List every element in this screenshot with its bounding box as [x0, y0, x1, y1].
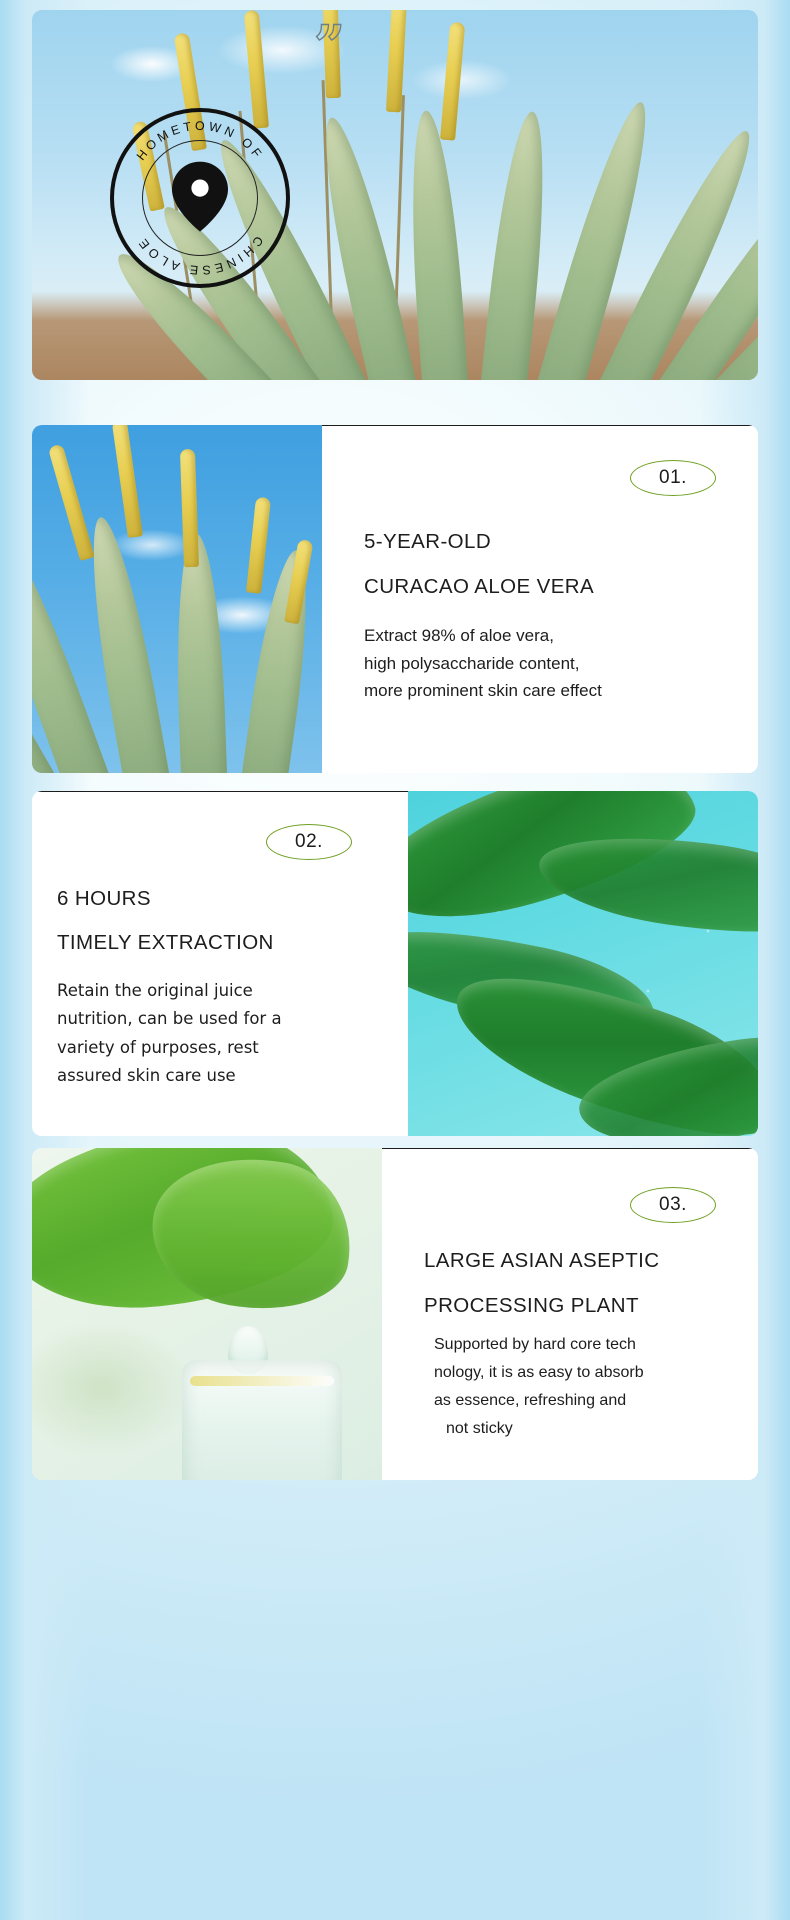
- hero-banner: ” HOMETOWN OF CHINESE ALOE: [32, 10, 758, 380]
- feature-card-1-heading: 5-YEAR-OLD CURACAO ALOE VERA: [364, 530, 594, 599]
- body-line: assured skin care use: [57, 1062, 375, 1090]
- feature-card-1-text: 01. 5-YEAR-OLD CURACAO ALOE VERA Extract…: [322, 425, 758, 773]
- feature-card-1-photo: [32, 425, 322, 773]
- body-line: as essence, refreshing and: [434, 1387, 734, 1415]
- feature-card-2: 02. 6 HOURS TIMELY EXTRACTION Retain the…: [32, 791, 758, 1136]
- feature-card-3-text: 03. LARGE ASIAN ASEPTIC PROCESSING PLANT…: [382, 1148, 758, 1480]
- feature-card-1-body: Extract 98% of aloe vera, high polysacch…: [364, 622, 602, 705]
- body-line: high polysaccharide content,: [364, 650, 602, 678]
- heading-line: 5-YEAR-OLD: [364, 530, 594, 554]
- heading-line: CURACAO ALOE VERA: [364, 575, 594, 599]
- heading-line: PROCESSING PLANT: [424, 1294, 659, 1318]
- feature-card-3-heading: LARGE ASIAN ASEPTIC PROCESSING PLANT: [424, 1249, 659, 1318]
- brand-seal-badge: HOMETOWN OF CHINESE ALOE: [110, 108, 290, 288]
- feature-card-3-number: 03.: [630, 1187, 716, 1223]
- feature-card-3-photo: [32, 1148, 382, 1480]
- seal-top-text: HOMETOWN OF: [134, 119, 266, 163]
- feature-card-2-photo: [408, 791, 758, 1136]
- feature-card-3: 03. LARGE ASIAN ASEPTIC PROCESSING PLANT…: [32, 1148, 758, 1480]
- body-line: more prominent skin care effect: [364, 677, 602, 705]
- body-line: nology, it is as easy to absorb: [434, 1359, 734, 1387]
- feature-card-2-number: 02.: [266, 824, 352, 860]
- body-line: Retain the original juice: [57, 977, 375, 1005]
- heading-line: 6 HOURS: [57, 887, 274, 911]
- body-line: Extract 98% of aloe vera,: [364, 622, 602, 650]
- body-line: not sticky: [434, 1415, 734, 1443]
- feature-card-3-body: Supported by hard core tech nology, it i…: [434, 1331, 734, 1443]
- feature-card-2-text: 02. 6 HOURS TIMELY EXTRACTION Retain the…: [32, 791, 408, 1136]
- quote-mark-icon: ”: [314, 18, 343, 72]
- heading-line: LARGE ASIAN ASEPTIC: [424, 1249, 659, 1273]
- feature-card-1: 01. 5-YEAR-OLD CURACAO ALOE VERA Extract…: [32, 425, 758, 773]
- body-line: variety of purposes, rest: [57, 1034, 375, 1062]
- heading-line: TIMELY EXTRACTION: [57, 931, 274, 955]
- seal-bottom-text: CHINESE ALOE: [134, 233, 266, 277]
- body-line: Supported by hard core tech: [434, 1331, 734, 1359]
- location-pin-icon: [172, 162, 228, 232]
- feature-card-2-body: Retain the original juice nutrition, can…: [57, 977, 375, 1091]
- body-line: nutrition, can be used for a: [57, 1005, 375, 1033]
- feature-card-1-number: 01.: [630, 460, 716, 496]
- feature-card-2-heading: 6 HOURS TIMELY EXTRACTION: [57, 887, 274, 955]
